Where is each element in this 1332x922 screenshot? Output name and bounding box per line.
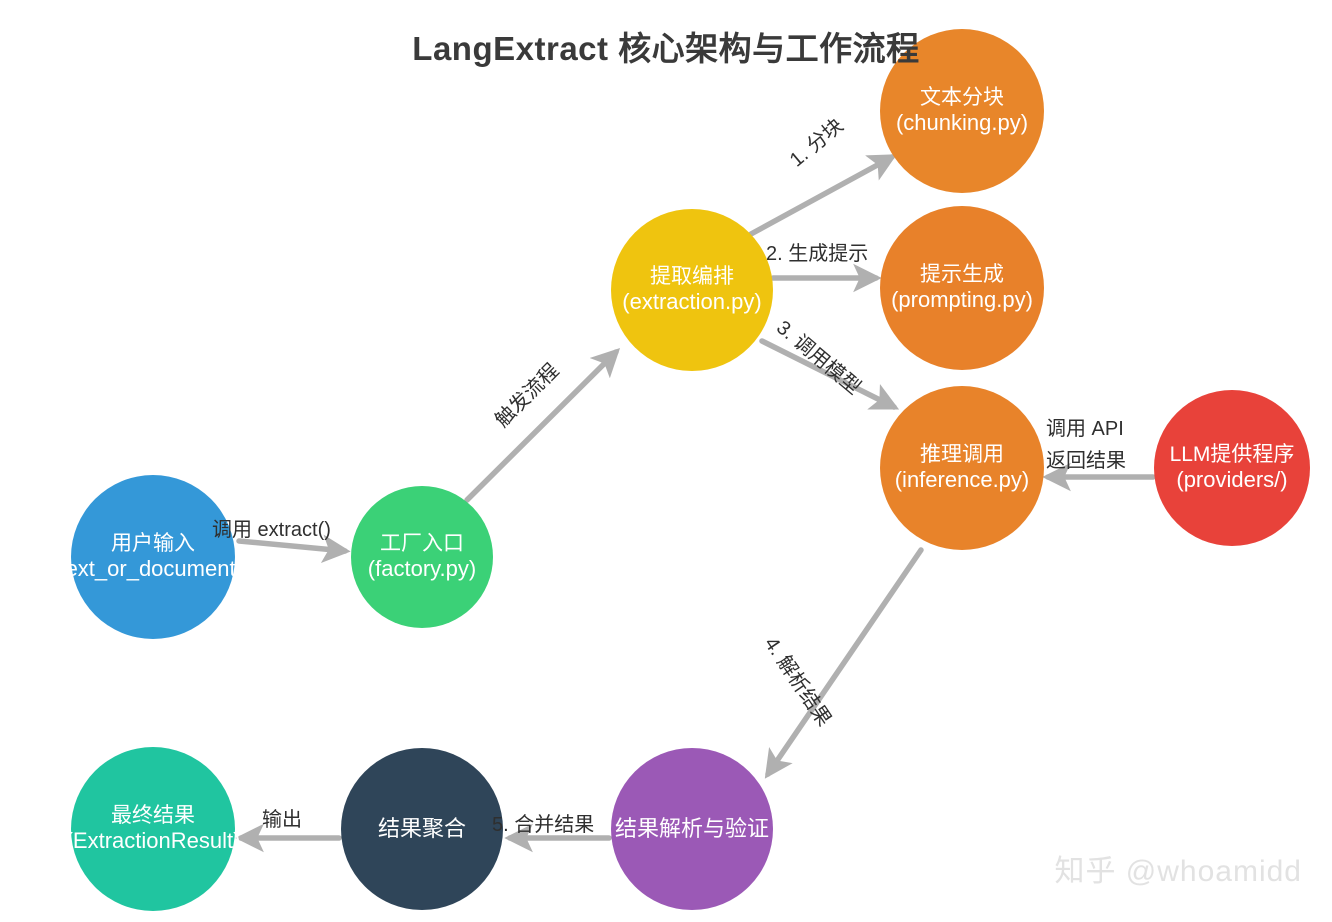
node-user-input[interactable]: 用户输入(text_or_documents) [71, 475, 235, 639]
node-label-primary: 提示生成 [920, 263, 1004, 287]
edge-inference-to-parse [768, 550, 921, 774]
node-prompting[interactable]: 提示生成(prompting.py) [880, 206, 1044, 370]
node-label-secondary: (chunking.py) [896, 110, 1028, 136]
node-label-primary: 提取编排 [650, 265, 734, 289]
node-label-secondary: (ExtractionResult) [66, 828, 241, 854]
node-label-primary: LLM提供程序 [1170, 443, 1295, 467]
node-label-secondary: (inference.py) [895, 467, 1030, 493]
node-aggregate[interactable]: 结果聚合 [341, 748, 503, 910]
node-label-primary: 工厂入口 [380, 532, 464, 556]
node-chunking[interactable]: 文本分块(chunking.py) [880, 29, 1044, 193]
node-label-secondary: (text_or_documents) [52, 556, 254, 582]
edge-extraction-to-chunking [751, 157, 892, 234]
node-label-secondary: (prompting.py) [891, 287, 1033, 313]
node-final-result[interactable]: 最终结果(ExtractionResult) [71, 747, 235, 911]
node-factory[interactable]: 工厂入口(factory.py) [351, 486, 493, 628]
edge-extraction-to-inference [762, 341, 894, 407]
node-extraction[interactable]: 提取编排(extraction.py) [611, 209, 773, 371]
node-label-secondary: (factory.py) [368, 556, 476, 582]
node-label-primary: 用户输入 [111, 532, 195, 556]
node-label-primary: 最终结果 [111, 804, 195, 828]
edge-user-to-factory [239, 541, 345, 551]
node-label-secondary: (providers/) [1176, 467, 1287, 493]
edge-factory-to-extraction [467, 352, 616, 500]
node-label-secondary: (extraction.py) [622, 289, 761, 315]
diagram-canvas: LangExtract 核心架构与工作流程 用户输入(text_or_docum… [0, 0, 1332, 922]
node-inference[interactable]: 推理调用(inference.py) [880, 386, 1044, 550]
node-label-primary: 文本分块 [920, 86, 1004, 110]
node-providers[interactable]: LLM提供程序(providers/) [1154, 390, 1310, 546]
node-label-primary: 结果解析与验证 [615, 816, 769, 842]
node-label-primary: 结果聚合 [378, 816, 466, 842]
node-parse-validate[interactable]: 结果解析与验证 [611, 748, 773, 910]
node-label-primary: 推理调用 [920, 443, 1004, 467]
